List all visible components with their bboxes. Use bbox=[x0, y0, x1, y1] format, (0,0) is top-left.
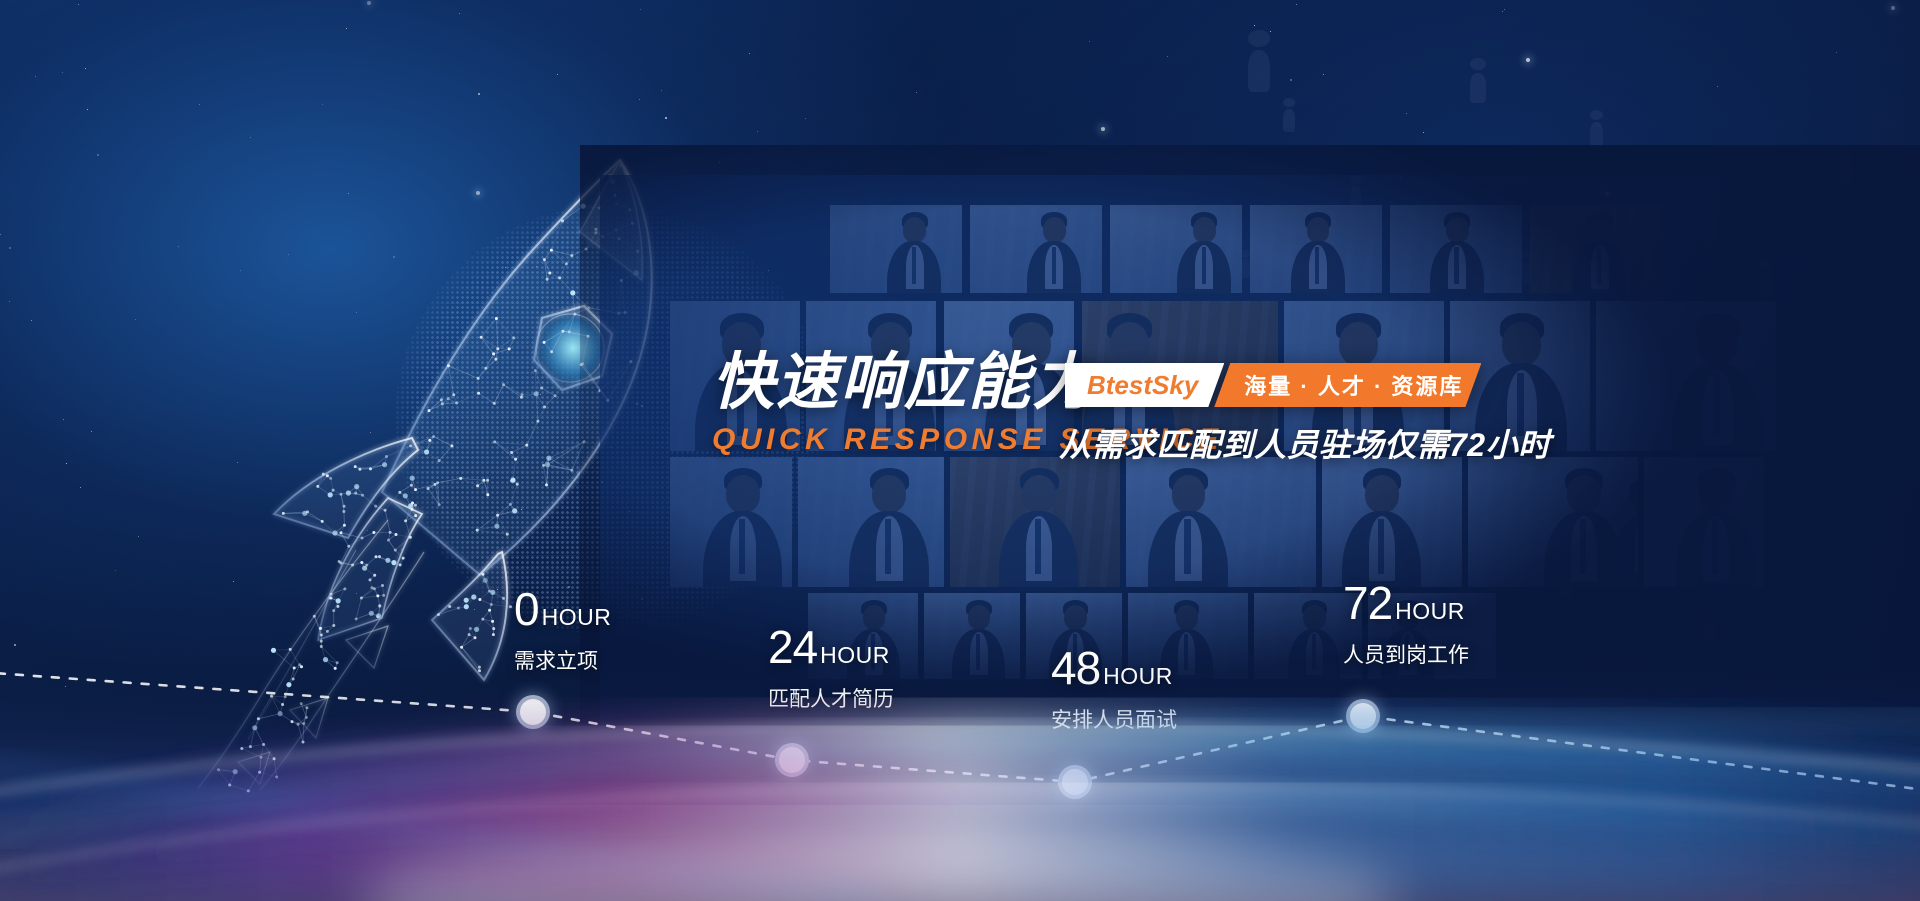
hero-banner: 快速响应能力 QUICK RESPONSE SERVICE BtestSky 海… bbox=[0, 0, 1920, 901]
aurora-light-streaks bbox=[0, 601, 1920, 901]
